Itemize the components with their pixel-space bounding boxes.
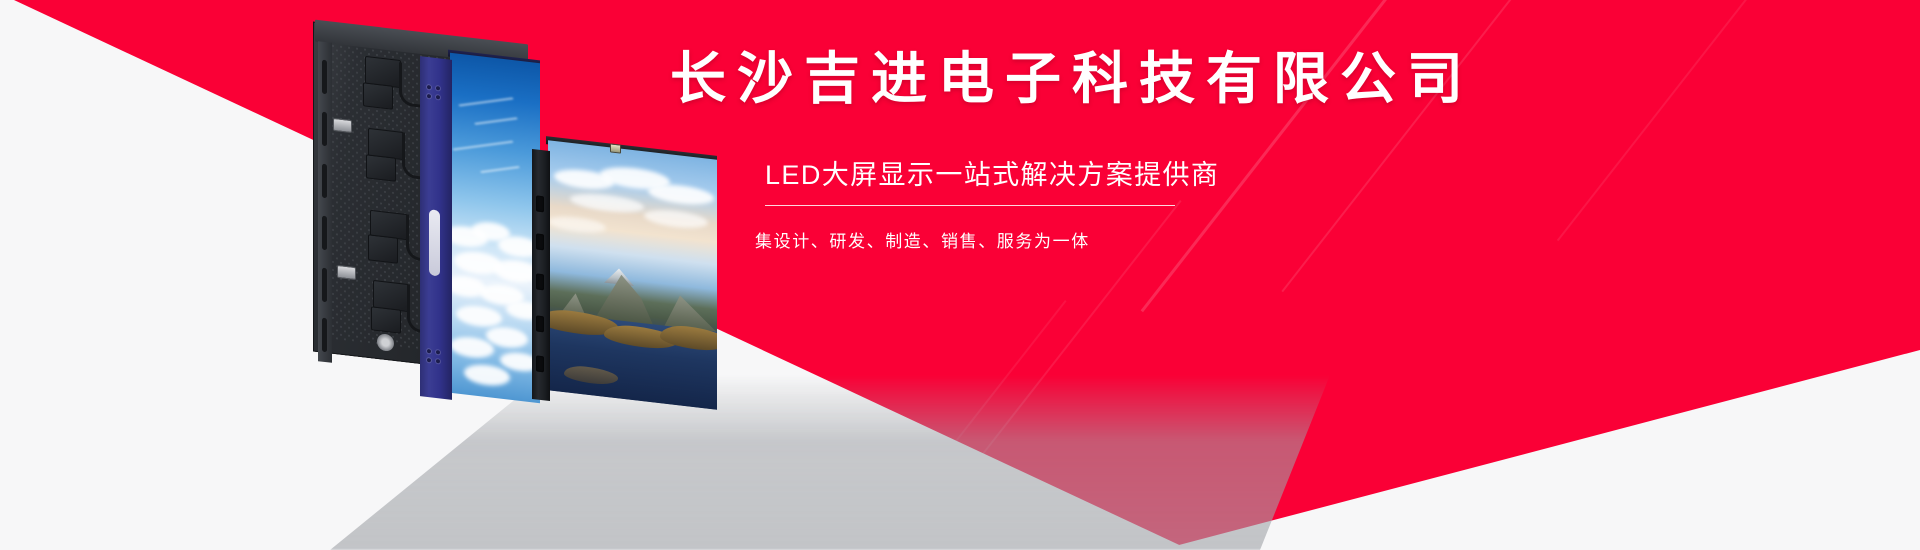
hero-banner: 长沙吉进电子科技有限公司 LED大屏显示一站式解决方案提供商 集设计、研发、制造… bbox=[0, 0, 1920, 550]
cabinet-connector bbox=[333, 118, 352, 133]
panel-sensor-icon bbox=[610, 143, 621, 153]
panel-screen-sky bbox=[450, 53, 540, 403]
panel-black-bezel bbox=[532, 149, 550, 401]
cabinet-left-rail bbox=[318, 41, 332, 363]
panel-blue-bezel bbox=[420, 56, 452, 400]
cabinet-module bbox=[371, 306, 401, 333]
subtitle-divider bbox=[765, 205, 1175, 206]
banner-copy: 长沙吉进电子科技有限公司 LED大屏显示一站式解决方案提供商 集设计、研发、制造… bbox=[670, 48, 1850, 252]
cabinet-module bbox=[368, 234, 398, 263]
banner-tagline: 集设计、研发、制造、销售、服务为一体 bbox=[755, 227, 1850, 252]
cabinet-module bbox=[366, 154, 396, 181]
cabinet-module bbox=[363, 82, 393, 109]
product-showcase bbox=[0, 0, 780, 550]
subtitle-block: LED大屏显示一站式解决方案提供商 bbox=[765, 159, 1185, 207]
banner-subtitle: LED大屏显示一站式解决方案提供商 bbox=[765, 159, 1185, 193]
led-panel-sky bbox=[420, 58, 540, 398]
cabinet-connector bbox=[337, 265, 356, 280]
panel-handle bbox=[429, 209, 440, 276]
company-title: 长沙吉进电子科技有限公司 bbox=[670, 48, 1850, 111]
